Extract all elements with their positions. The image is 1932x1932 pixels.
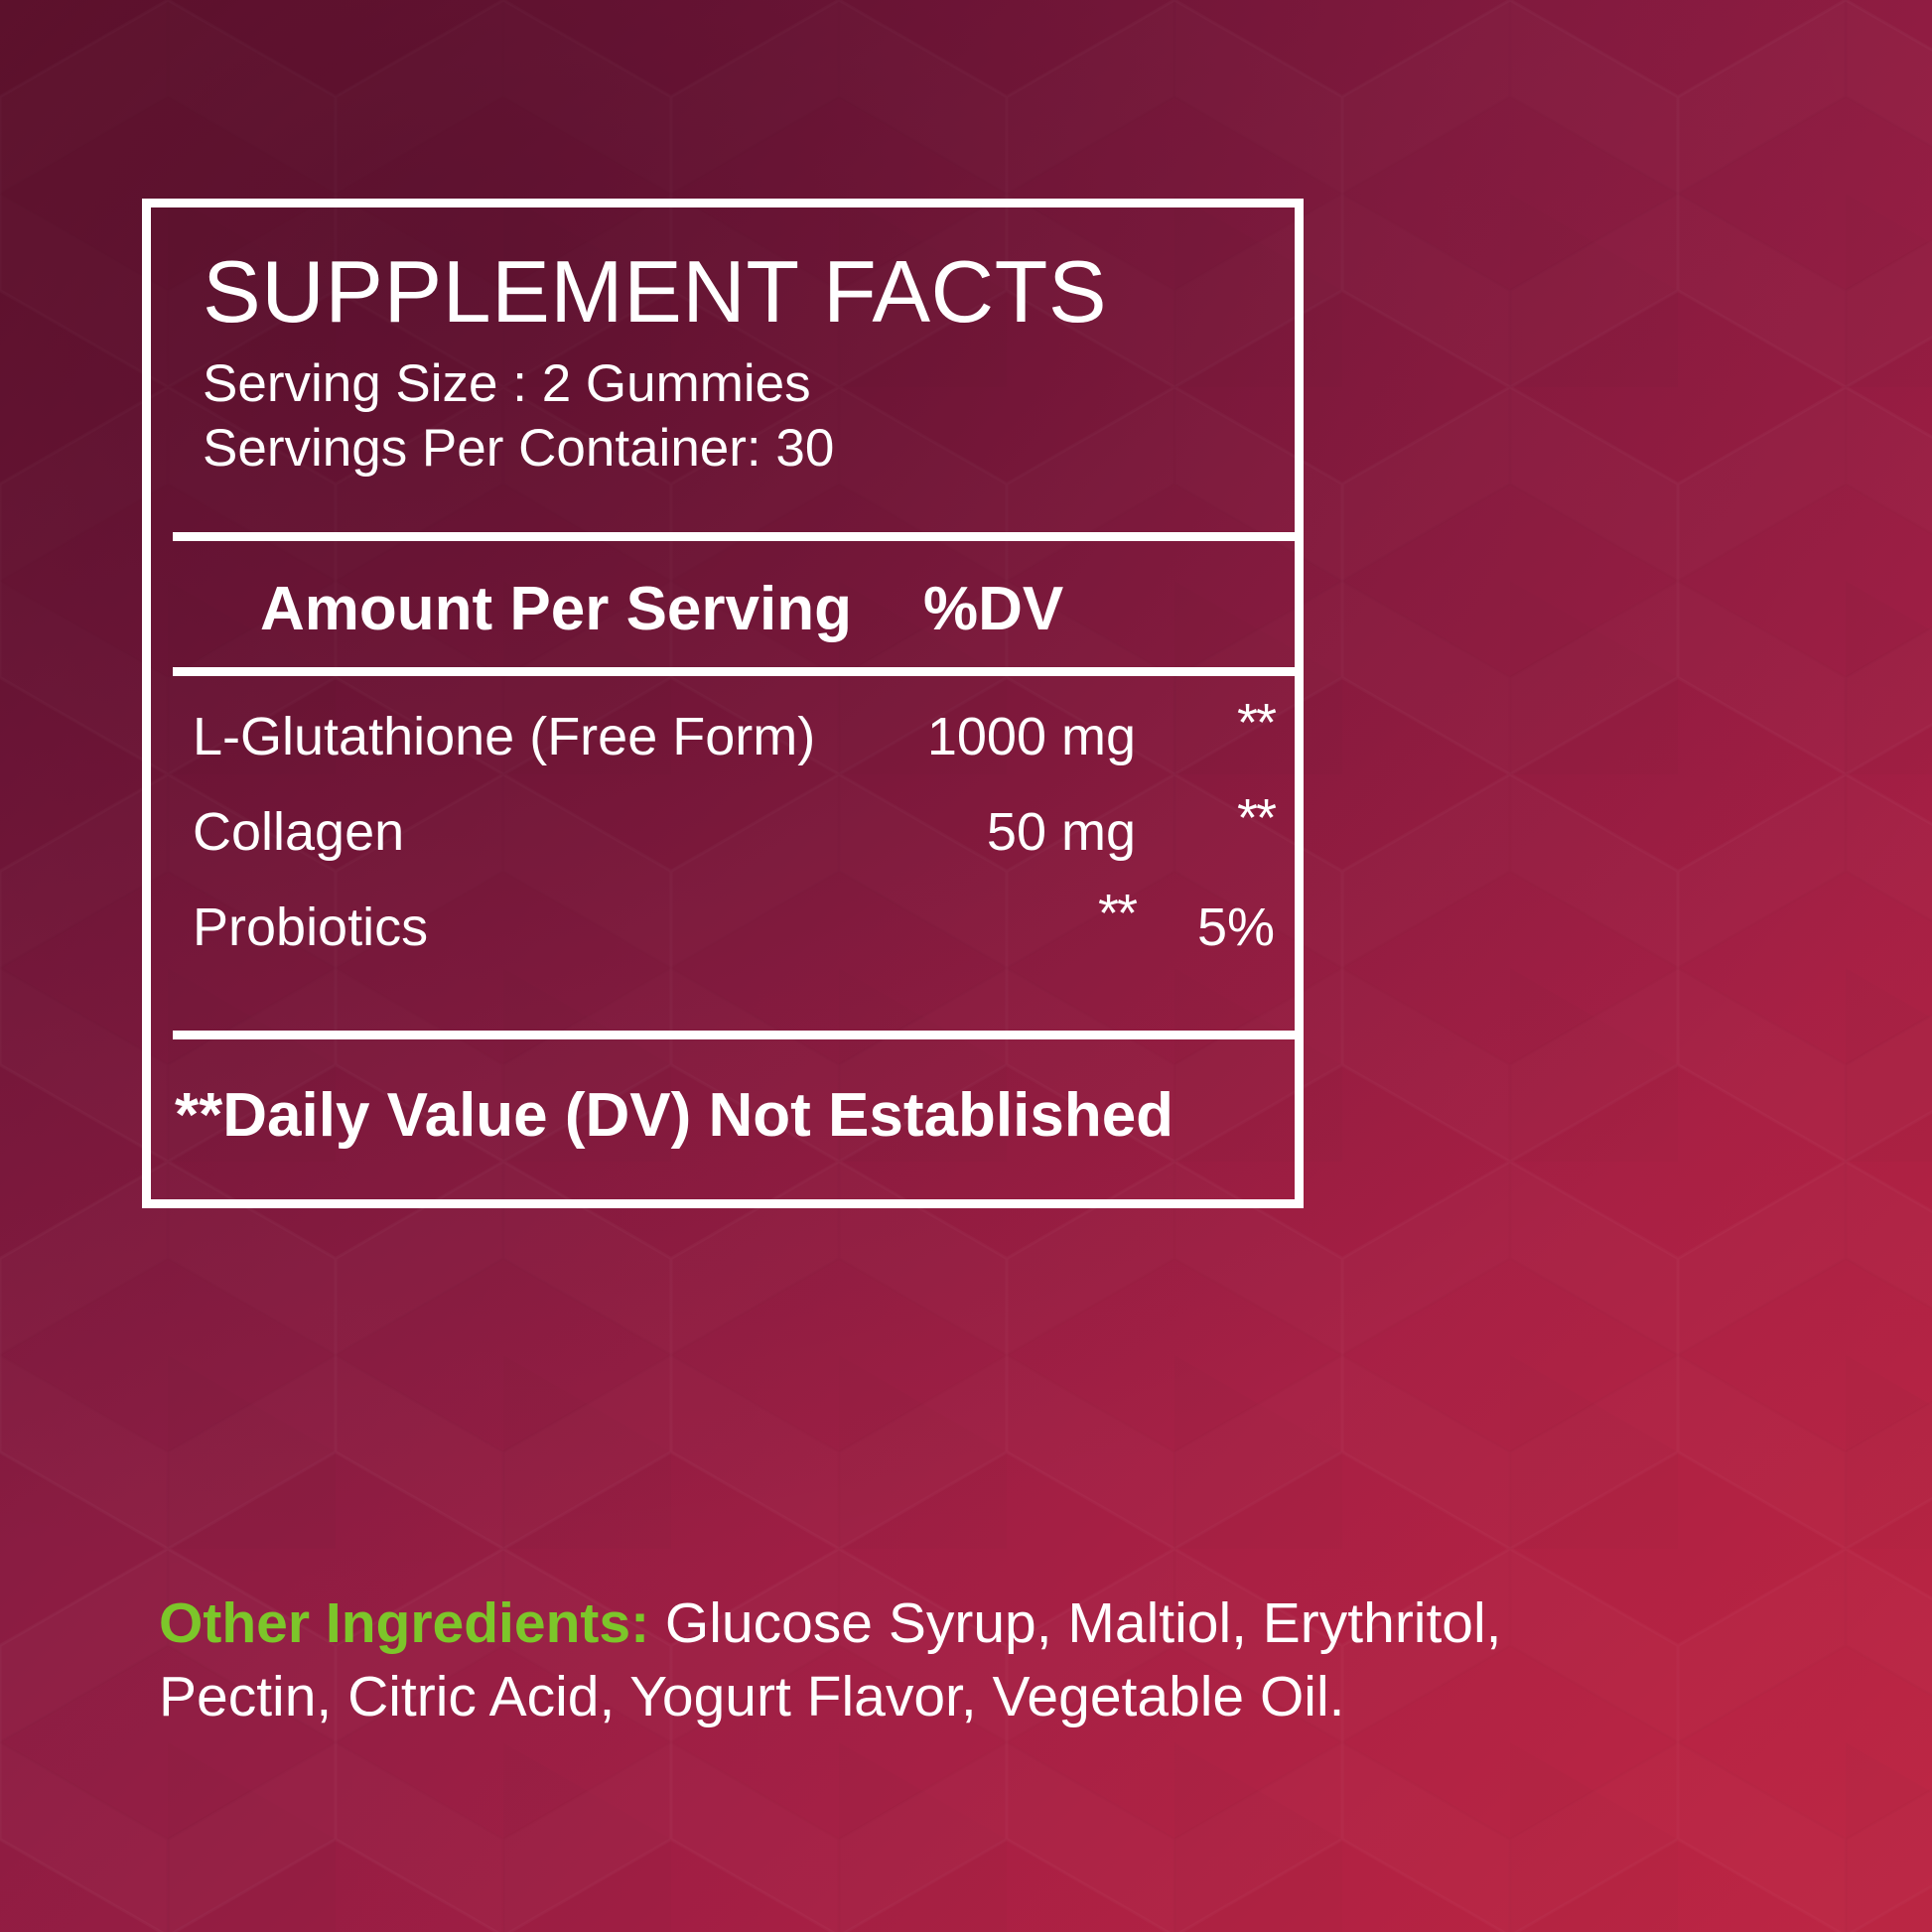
other-ingredients-block: Other Ingredients: Glucose Syrup, Maltio… <box>159 1587 1638 1733</box>
divider-below-column-header <box>173 667 1295 676</box>
servings-per-container-text: Servings Per Container: 30 <box>203 417 1295 482</box>
column-header-amount-per-serving: Amount Per Serving <box>260 574 852 644</box>
daily-value-footnote: **Daily Value (DV) Not Established <box>175 1080 1173 1151</box>
ingredient-name: Collagen <box>193 801 878 863</box>
supplement-facts-panel: SUPPLEMENT FACTS Serving Size : 2 Gummie… <box>142 199 1304 1208</box>
other-ingredients-label: Other Ingredients: <box>159 1591 649 1655</box>
table-row: L-Glutathione (Free Form) 1000 mg ** <box>151 706 1295 801</box>
column-header-percent-dv: %DV <box>923 574 1063 644</box>
page-title: SUPPLEMENT FACTS <box>203 249 1295 335</box>
table-row: Probiotics ** 5% <box>151 897 1295 992</box>
footnote-section: **Daily Value (DV) Not Established <box>151 1039 1295 1190</box>
ingredient-name: Probiotics <box>193 897 878 958</box>
ingredient-amount: 50 mg <box>878 801 1136 863</box>
column-header-section: Amount Per Serving %DV <box>151 541 1295 676</box>
table-row: Collagen 50 mg ** <box>151 801 1295 897</box>
ingredient-daily-value: 5% <box>1136 897 1293 958</box>
divider-below-header <box>173 532 1295 541</box>
ingredient-name: L-Glutathione (Free Form) <box>193 706 878 767</box>
ingredient-rows-section: L-Glutathione (Free Form) 1000 mg ** Col… <box>151 676 1295 1039</box>
serving-info-block: Serving Size : 2 Gummies Servings Per Co… <box>203 352 1295 481</box>
serving-size-text: Serving Size : 2 Gummies <box>203 352 1295 417</box>
panel-header-section: SUPPLEMENT FACTS Serving Size : 2 Gummie… <box>151 207 1295 541</box>
divider-above-footnote <box>173 1031 1295 1039</box>
ingredient-amount: 1000 mg <box>878 706 1136 767</box>
